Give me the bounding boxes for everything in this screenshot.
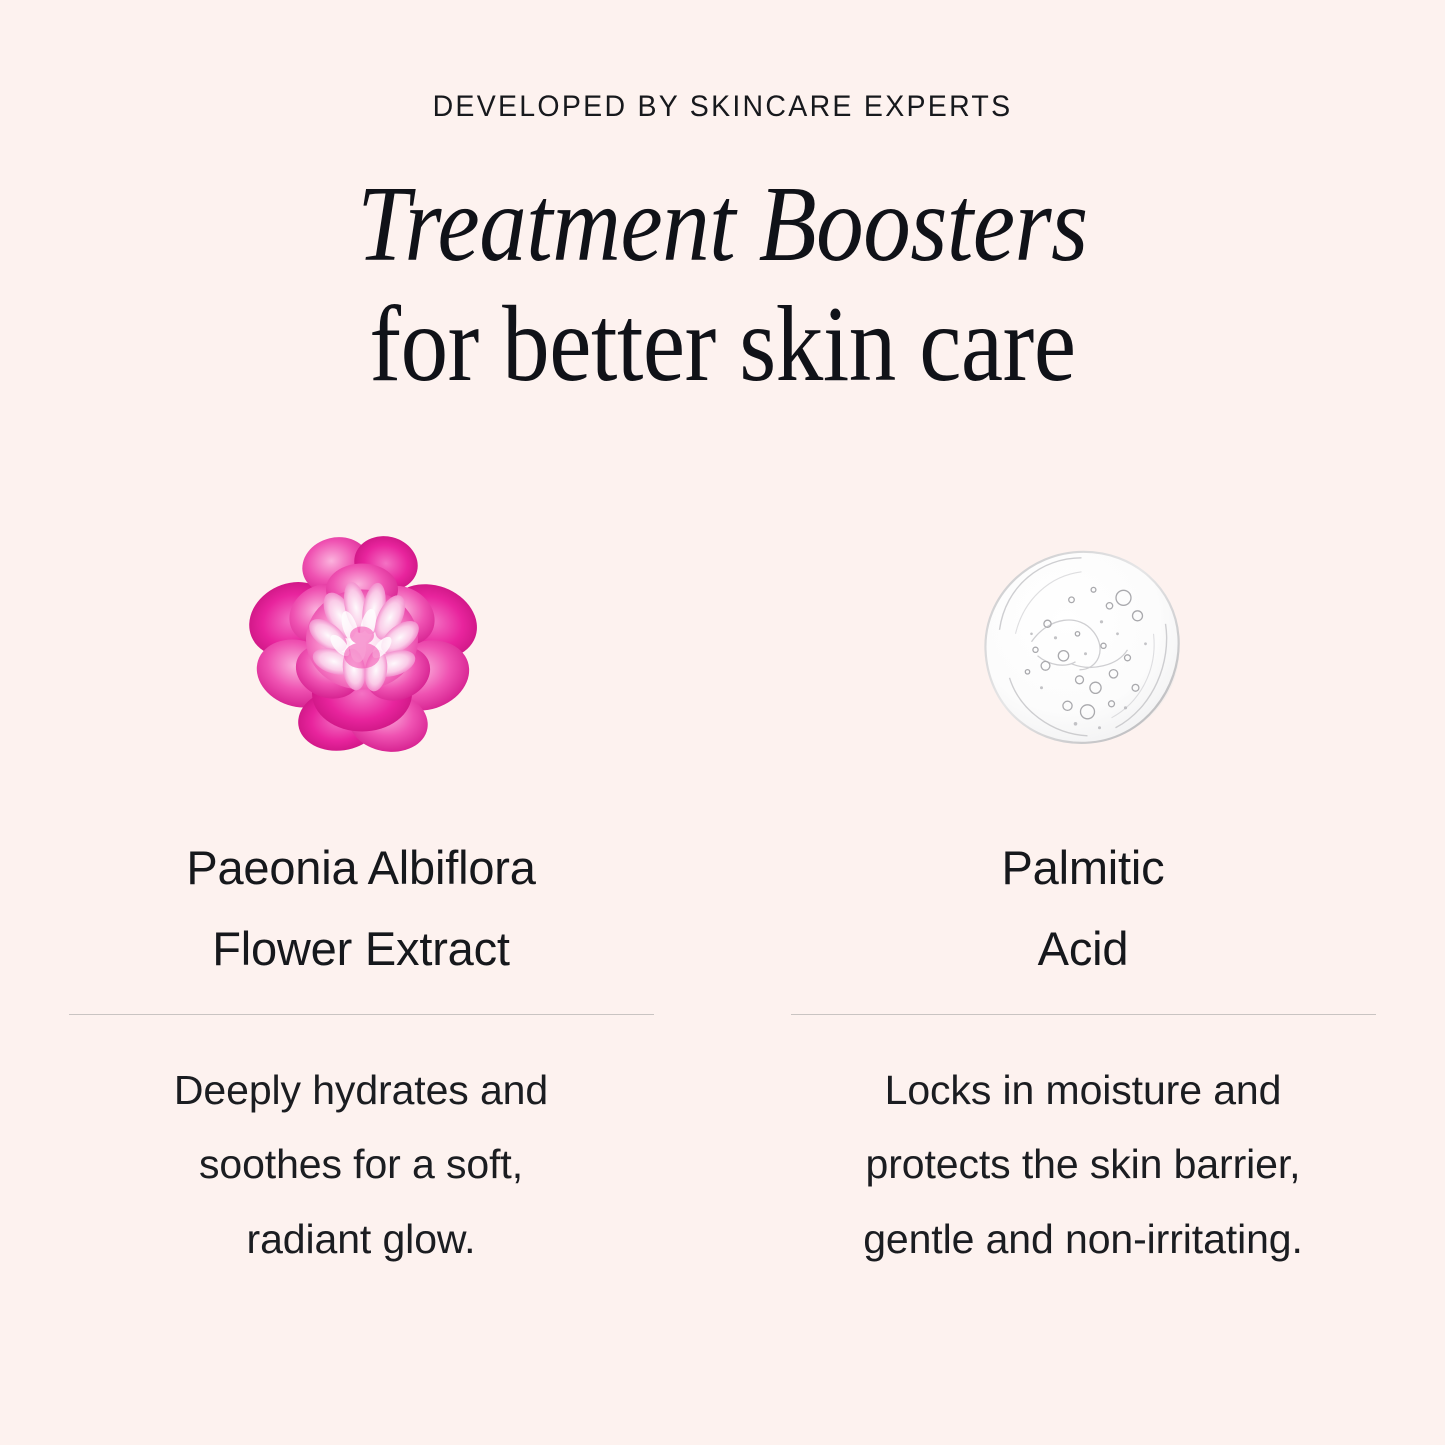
eyebrow-text: DEVELOPED BY SKINCARE EXPERTS <box>36 92 1409 122</box>
page-header: DEVELOPED BY SKINCARE EXPERTS Treatment … <box>0 0 1445 403</box>
peony-flower-icon <box>236 524 486 759</box>
ingredient-divider <box>69 1014 654 1015</box>
ingredient-art-right <box>953 516 1213 766</box>
ingredient-divider <box>791 1014 1376 1015</box>
ingredient-name: Palmitic Acid <box>1002 828 1165 990</box>
ingredient-card-palmitic-acid: Palmitic Acid Locks in moisture and prot… <box>722 516 1444 1276</box>
ingredient-card-paeonia-albiflora: Paeonia Albiflora Flower Extract Deeply … <box>0 516 722 1276</box>
ingredient-art-left <box>231 516 491 766</box>
ingredient-name: Paeonia Albiflora Flower Extract <box>186 828 535 990</box>
ingredient-columns: Paeonia Albiflora Flower Extract Deeply … <box>0 516 1445 1276</box>
marketing-page: DEVELOPED BY SKINCARE EXPERTS Treatment … <box>0 0 1445 1445</box>
page-title-line-1: Treatment Boosters <box>87 166 1359 284</box>
ingredient-description: Deeply hydrates and soothes for a soft, … <box>174 1053 548 1277</box>
ingredient-description: Locks in moisture and protects the skin … <box>863 1053 1303 1277</box>
page-title: Treatment Boosters for better skin care <box>0 166 1445 403</box>
gel-outline <box>985 552 1178 743</box>
page-title-line-2: for better skin care <box>87 286 1359 404</box>
gel-droplet-icon <box>976 538 1191 753</box>
